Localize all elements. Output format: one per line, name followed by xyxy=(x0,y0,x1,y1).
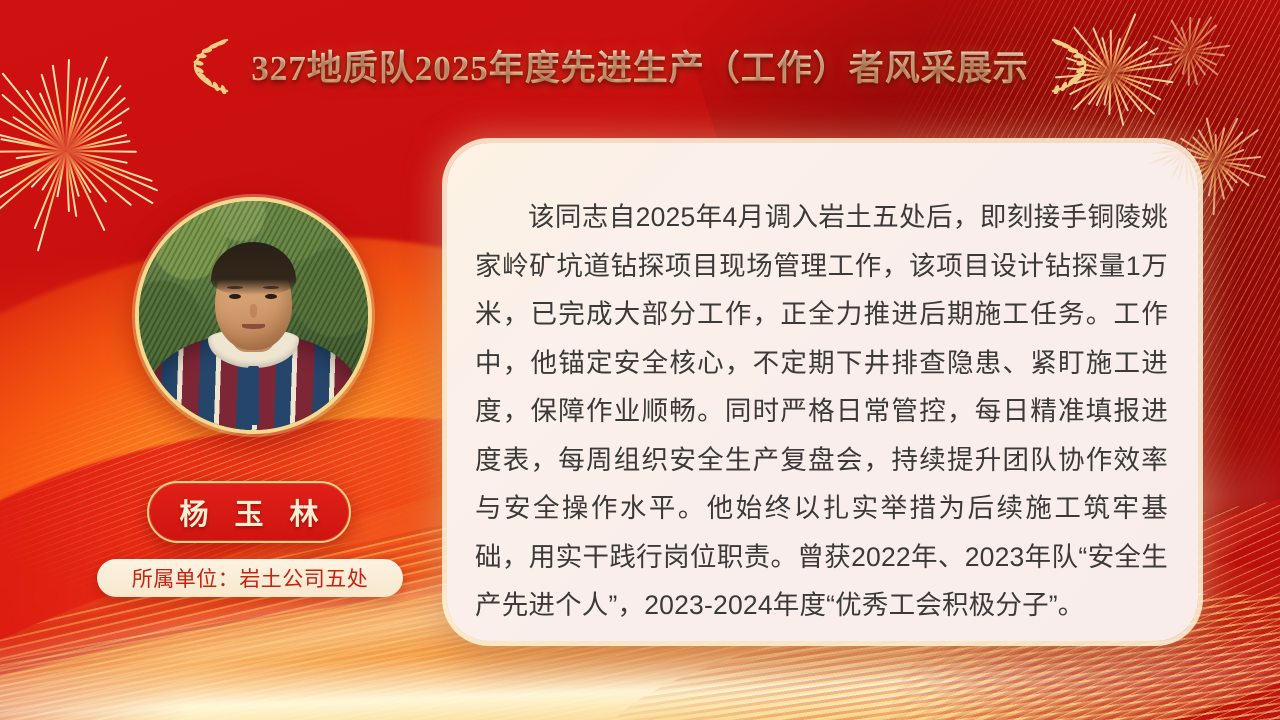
photo-placket xyxy=(248,366,259,426)
photo-eye-right xyxy=(265,294,277,299)
portrait-photo xyxy=(139,201,368,430)
photo-mouth xyxy=(242,324,265,329)
laurel-branch-icon xyxy=(189,36,237,94)
firework-burst-right-mid-icon xyxy=(1215,160,1216,161)
description-card: 该同志自2025年4月调入岩土五处后，即刻接手铜陵姚家岭矿坑道钻探项目现场管理工… xyxy=(447,143,1198,641)
description-card-body: 该同志自2025年4月调入岩土五处后，即刻接手铜陵姚家岭矿坑道钻探项目现场管理工… xyxy=(447,143,1198,630)
photo-nose xyxy=(250,304,258,318)
poster-background: 327地质队2025年度先进生产（工作）者风采展示 xyxy=(0,0,1280,720)
unit-banner: 所属单位：岩土公司五处 xyxy=(97,559,403,597)
page-title: 327地质队2025年度先进生产（工作）者风采展示 xyxy=(251,40,1029,91)
firework-burst-left-icon xyxy=(65,150,66,151)
avatar xyxy=(135,197,372,434)
poster-title-bar: 327地质队2025年度先进生产（工作）者风采展示 xyxy=(0,36,1280,94)
achievement-description: 该同志自2025年4月调入岩土五处后，即刻接手铜陵姚家岭矿坑道钻探项目现场管理工… xyxy=(475,193,1168,630)
unit-label: 所属单位：岩土公司五处 xyxy=(132,563,369,593)
person-name: 杨 玉 林 xyxy=(170,491,327,533)
name-badge: 杨 玉 林 xyxy=(147,481,351,543)
laurel-branch-icon-right xyxy=(1043,36,1091,94)
